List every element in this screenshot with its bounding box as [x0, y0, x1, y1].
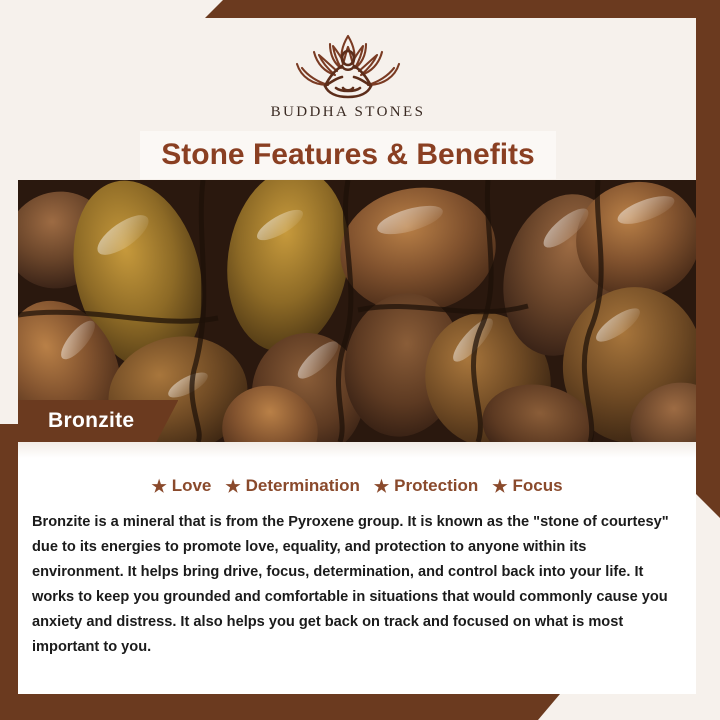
feature-item-determination: ★ Determination	[225, 476, 360, 496]
infographic-page: BUDDHA STONES Stone Features & Benefits	[0, 0, 720, 720]
lotus-meditation-icon	[273, 30, 423, 102]
star-icon: ★	[492, 478, 507, 495]
page-title: Stone Features & Benefits	[161, 138, 534, 172]
feature-list: ★ Love ★ Determination ★ Protection ★ Fo…	[18, 442, 696, 496]
feature-label: Protection	[394, 476, 478, 496]
header: BUDDHA STONES Stone Features & Benefits	[0, 18, 696, 180]
star-icon: ★	[374, 478, 389, 495]
content-card: ★ Love ★ Determination ★ Protection ★ Fo…	[18, 442, 696, 694]
star-icon: ★	[151, 478, 166, 495]
stone-name-badge: Bronzite	[18, 400, 178, 442]
frame-left-bar	[0, 424, 18, 720]
feature-item-focus: ★ Focus	[492, 476, 562, 496]
frame-right-bar	[696, 0, 720, 518]
title-plate: Stone Features & Benefits	[140, 131, 556, 179]
star-icon: ★	[225, 478, 240, 495]
feature-label: Love	[172, 476, 212, 496]
feature-item-love: ★ Love	[151, 476, 211, 496]
frame-top-right-bar	[205, 0, 720, 18]
frame-bottom-bar	[0, 694, 560, 720]
hero-banner: Bronzite	[18, 180, 696, 442]
brand-name: BUDDHA STONES	[271, 104, 426, 121]
feature-label: Focus	[512, 476, 562, 496]
feature-label: Determination	[246, 476, 360, 496]
feature-item-protection: ★ Protection	[374, 476, 478, 496]
stone-description: Bronzite is a mineral that is from the P…	[18, 510, 696, 661]
